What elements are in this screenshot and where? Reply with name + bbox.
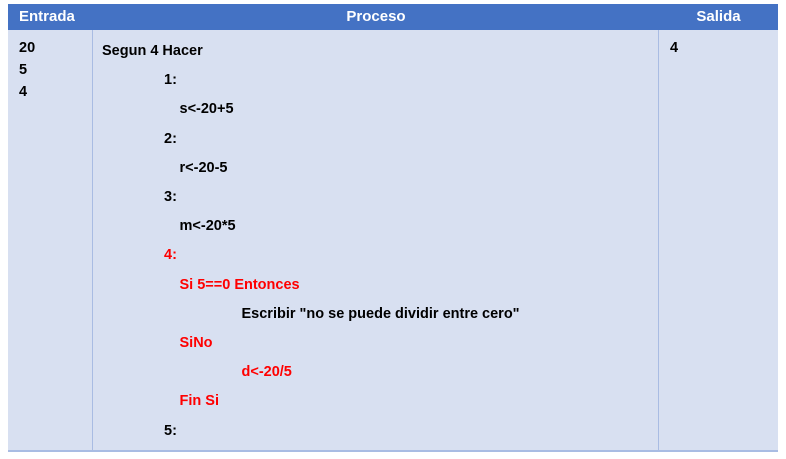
entrada-value: 20 xyxy=(19,37,92,59)
trace-table: Entrada Proceso Salida 2054 Segun 4 Hace… xyxy=(8,4,778,452)
salida-value: 4 xyxy=(670,37,778,59)
pseudocode-line: 4: xyxy=(102,241,658,270)
column-header-proceso: Proceso xyxy=(93,4,659,30)
cell-salida: 4 xyxy=(659,30,778,450)
entrada-value: 5 xyxy=(19,59,92,81)
pseudocode-line: s<-20+5 xyxy=(102,95,658,124)
column-header-salida: Salida xyxy=(659,4,778,30)
pseudocode-line: Si 5==0 Entonces xyxy=(102,271,658,300)
pseudocode-block: Segun 4 Hacer1:s<-20+52:r<-20-53:m<-20*5… xyxy=(102,37,658,450)
pseudocode-line: Escribir "Gracias por usar nuestro progr… xyxy=(102,446,658,450)
pseudocode-line: 2: xyxy=(102,125,658,154)
pseudocode-line: 1: xyxy=(102,66,658,95)
pseudocode-line: d<-20/5 xyxy=(102,358,658,387)
salida-value-list: 4 xyxy=(670,37,778,59)
pseudocode-line: r<-20-5 xyxy=(102,154,658,183)
pseudocode-line: Segun 4 Hacer xyxy=(102,37,658,66)
pseudocode-line: 3: xyxy=(102,183,658,212)
cell-entrada: 2054 xyxy=(8,30,93,450)
table-header-row: Entrada Proceso Salida xyxy=(8,4,778,30)
pseudocode-line: m<-20*5 xyxy=(102,212,658,241)
pseudocode-line: Escribir "no se puede dividir entre cero… xyxy=(102,300,658,329)
table-body-row: 2054 Segun 4 Hacer1:s<-20+52:r<-20-53:m<… xyxy=(8,30,778,452)
cell-proceso: Segun 4 Hacer1:s<-20+52:r<-20-53:m<-20*5… xyxy=(93,30,659,450)
pseudocode-line: Fin Si xyxy=(102,387,658,416)
entrada-value: 4 xyxy=(19,81,92,103)
pseudocode-line: SiNo xyxy=(102,329,658,358)
column-header-entrada: Entrada xyxy=(8,4,93,30)
entrada-value-list: 2054 xyxy=(19,37,92,103)
pseudocode-line: 5: xyxy=(102,417,658,446)
